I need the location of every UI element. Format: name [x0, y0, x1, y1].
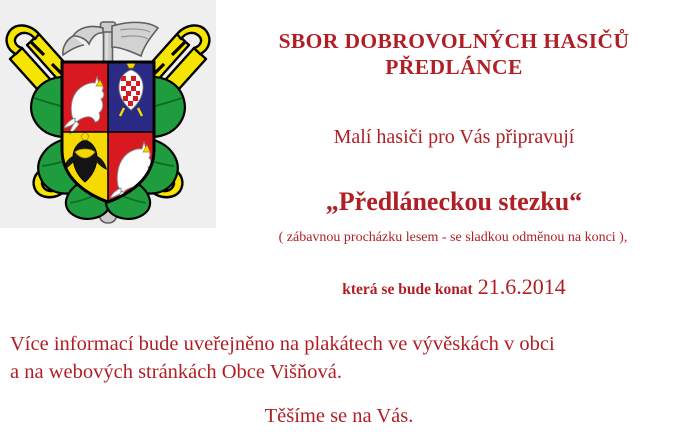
emblem-panel [0, 0, 216, 228]
org-title-line-1: SBOR DOBROVOLNÝCH HASIČŮ [230, 28, 678, 54]
event-date-value: 21.6.2014 [473, 274, 566, 299]
event-note: ( zábavnou procházku lesem - se sladkou … [228, 228, 678, 248]
info-paragraph-line-1: Více informací bude uveřejněno na plakát… [10, 330, 672, 358]
closing-line: Těšíme se na Vás. [0, 402, 678, 430]
event-date: která se bude konat21.6.2014 [230, 274, 678, 303]
organization-title: SBOR DOBROVOLNÝCH HASIČŮ PŘEDLÁNCE [230, 28, 678, 80]
intro-subtitle: Malí hasiči pro Vás připravují [230, 124, 678, 150]
event-name: „Předláneckou stezku“ [230, 186, 678, 218]
org-title-line-2: PŘEDLÁNCE [230, 54, 678, 80]
sdh-emblem-icon [0, 0, 216, 228]
event-date-lead-in: která se bude konat [342, 281, 472, 298]
info-paragraph-line-2: a na webových stránkách Obce Višňová. [10, 358, 672, 386]
info-paragraph: Více informací bude uveřejněno na plakát… [10, 330, 672, 386]
poster-canvas: SBOR DOBROVOLNÝCH HASIČŮ PŘEDLÁNCE Malí … [0, 0, 678, 447]
